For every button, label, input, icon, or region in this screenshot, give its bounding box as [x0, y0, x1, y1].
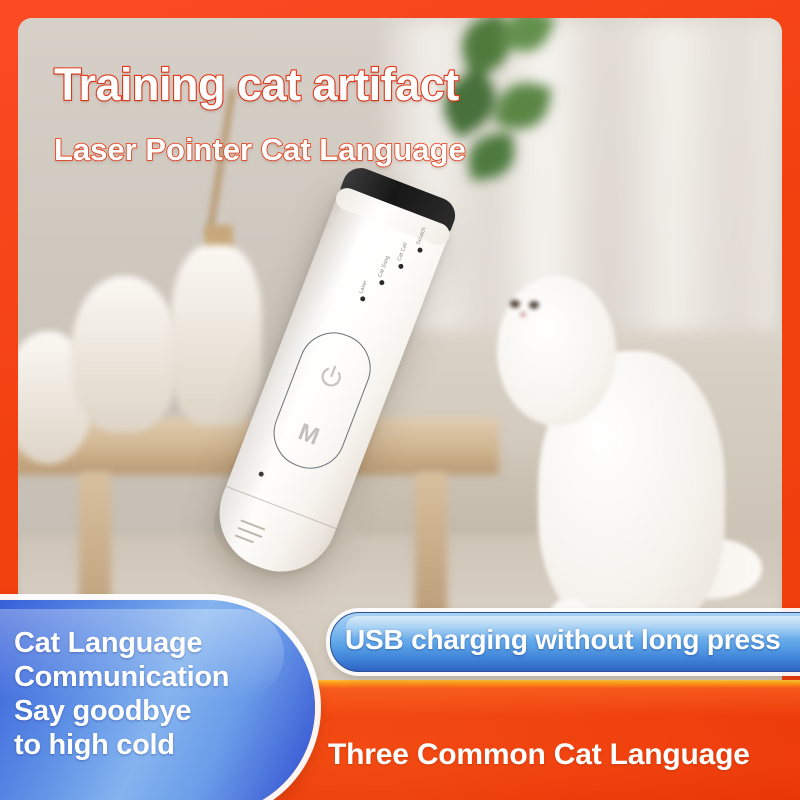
plant-leaf	[465, 132, 518, 181]
coffee-table-leg	[415, 472, 447, 621]
cat-eye	[510, 300, 520, 308]
page-title: Training cat artifact	[54, 62, 459, 107]
cat-language-panel-text: Cat Language Communication Say goodbye t…	[14, 627, 229, 763]
power-icon[interactable]	[314, 359, 349, 394]
led-dot	[398, 263, 404, 269]
cat-head	[497, 276, 616, 426]
panel-line: to high cold	[14, 729, 229, 763]
cat-eye	[529, 301, 539, 309]
usb-charging-label: USB charging without long press	[345, 624, 781, 656]
page-subtitle: Laser Pointer Cat Language	[54, 134, 466, 165]
white-persian-cat	[492, 268, 752, 643]
led-label: Laser	[358, 280, 368, 295]
plant-leaf	[493, 77, 552, 134]
ceramic-vase	[71, 276, 178, 432]
led-dot	[360, 296, 366, 302]
cat-nose	[520, 312, 526, 317]
led-dot	[379, 279, 385, 285]
panel-line: Say goodbye	[14, 695, 229, 729]
led-label: Cat Call	[396, 242, 408, 262]
product-poster: Scratch Cat Call Cat Song Laser M Traini…	[0, 0, 800, 800]
led-label: Cat Song	[377, 255, 391, 278]
led-dot	[417, 247, 423, 253]
mode-button-label[interactable]: M	[294, 418, 323, 451]
red-band-label: Three Common Cat Language	[328, 738, 750, 772]
ceramic-vase	[171, 245, 263, 425]
panel-line: Cat Language	[14, 627, 229, 661]
panel-line: Communication	[14, 661, 229, 695]
